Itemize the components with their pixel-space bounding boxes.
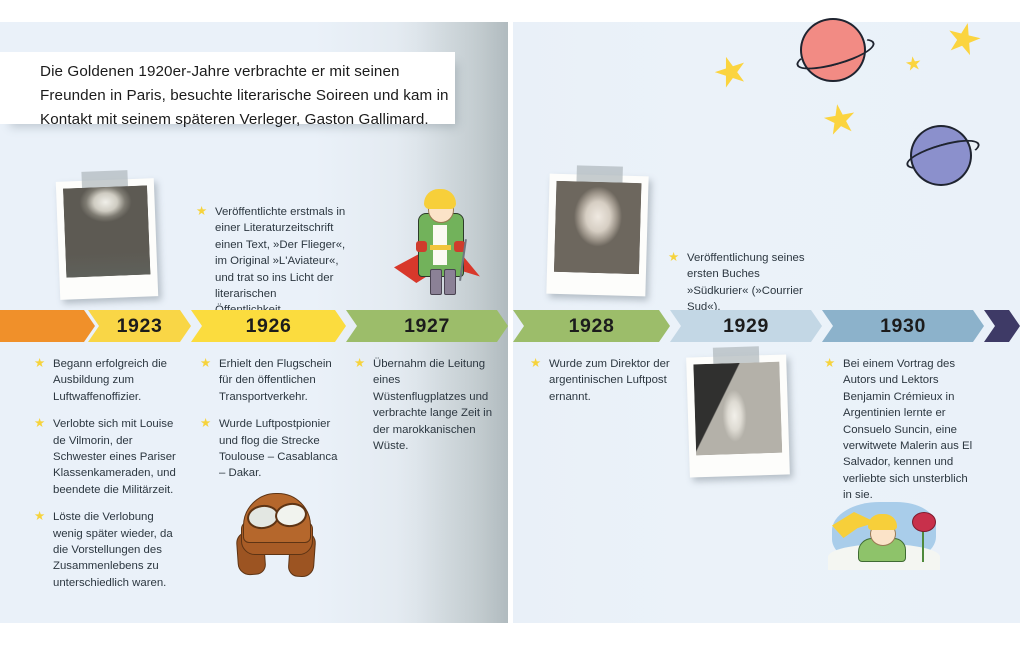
- list-item: ★ Löste die Verlobung wenig später wiede…: [34, 509, 184, 591]
- star-bullet-icon: ★: [34, 511, 45, 522]
- timeline-year-label: 1929: [723, 315, 769, 338]
- star-icon: ★: [904, 54, 924, 75]
- timeline-year-1929[interactable]: 1929: [670, 310, 822, 342]
- list-item: ★ Erhielt den Flugschein für den öffentl…: [200, 356, 346, 405]
- aviator-cap-with-goggles-icon: [233, 487, 319, 575]
- timeline-year-1926[interactable]: 1926: [191, 310, 346, 342]
- planet-blue-icon: [910, 125, 972, 186]
- column-1923-bullets: ★ Begann erfolgreich die Ausbildung zum …: [34, 356, 184, 602]
- note-1928: ★ Veröffentlichung seines ersten Buches …: [668, 250, 818, 316]
- star-bullet-icon: ★: [200, 358, 211, 369]
- bullet-text: Wurde Luftpostpionier und flog die Strec…: [219, 418, 337, 479]
- timeline-year-1923[interactable]: 1923: [88, 310, 191, 342]
- star-bullet-icon: ★: [354, 358, 365, 369]
- timeline-year-label: 1926: [246, 315, 292, 338]
- star-bullet-icon: ★: [668, 252, 679, 263]
- note-1926: ★ Veröffentlichte erstmals in einer Lite…: [196, 204, 346, 319]
- bullet-text: Wurde zum Direktor der argentinischen Lu…: [549, 358, 670, 403]
- star-bullet-icon: ★: [34, 418, 45, 429]
- little-prince-standing-icon: [392, 185, 488, 297]
- note-text: Veröffentlichte erstmals in einer Litera…: [215, 206, 345, 316]
- list-item: ★ Verlobte sich mit Louise de Vilmorin, …: [34, 416, 184, 498]
- page-edge-bottom: [0, 623, 1020, 645]
- timeline-end-cap: [984, 310, 1020, 342]
- column-1930-bullets: ★ Bei einem Vortrag des Autors und Lekto…: [824, 356, 976, 515]
- star-bullet-icon: ★: [196, 206, 207, 217]
- timeline-year-label: 1930: [880, 315, 926, 338]
- column-1928-bullets: ★ Wurde zum Direktor der argentinischen …: [530, 356, 678, 416]
- bullet-text: Erhielt den Flugschein für den öffentlic…: [219, 358, 332, 403]
- planet-red-icon: [800, 18, 866, 82]
- timeline-year-label: 1923: [117, 315, 163, 338]
- intro-text: Die Goldenen 1920er-Jahre verbrachte er …: [40, 60, 460, 132]
- timeline-year-1927[interactable]: 1927: [346, 310, 508, 342]
- timeline-start-cap: [0, 310, 95, 342]
- star-bullet-icon: ★: [34, 358, 45, 369]
- photo-image: [63, 185, 150, 277]
- list-item: ★ Übernahm die Leitung eines Wüstenflugp…: [354, 356, 494, 454]
- photo-portrait-saint-exupery: [546, 174, 648, 297]
- star-icon: ★: [819, 97, 861, 143]
- photo-man-with-airplane: [686, 354, 790, 477]
- photo-pilot-in-flight-suit: [56, 178, 158, 300]
- page-edge-top: [0, 0, 1020, 22]
- bullet-text: Löste die Verlobung wenig später wieder,…: [53, 511, 173, 589]
- column-1927-bullets: ★ Übernahm die Leitung eines Wüstenflugp…: [354, 356, 494, 465]
- star-bullet-icon: ★: [530, 358, 541, 369]
- bullet-text: Begann erfolgreich die Ausbildung zum Lu…: [53, 358, 167, 403]
- list-item: ★ Wurde Luftpostpionier und flog die Str…: [200, 416, 346, 482]
- photo-image: [554, 181, 642, 274]
- star-bullet-icon: ★: [824, 358, 835, 369]
- timeline-band: 1923 1926 1927 1928 1929 1930: [0, 310, 1020, 342]
- bullet-text: Übernahm die Leitung eines Wüstenflugpla…: [373, 358, 492, 452]
- column-1926-bullets: ★ Erhielt den Flugschein für den öffentl…: [200, 356, 346, 493]
- bullet-text: Verlobte sich mit Louise de Vilmorin, de…: [53, 418, 176, 496]
- bullet-text: Bei einem Vortrag des Autors und Lektors…: [843, 358, 972, 501]
- timeline-year-1930[interactable]: 1930: [822, 310, 984, 342]
- list-item: ★ Bei einem Vortrag des Autors und Lekto…: [824, 356, 976, 504]
- book-spread: ★ ★ ★ ★ Die Goldenen 1920er-Jahre verbra…: [0, 0, 1020, 645]
- photo-image: [693, 362, 782, 456]
- timeline-year-label: 1928: [569, 315, 615, 338]
- timeline-year-1928[interactable]: 1928: [513, 310, 670, 342]
- list-item: ★ Wurde zum Direktor der argentinischen …: [530, 356, 678, 405]
- list-item: ★ Begann erfolgreich die Ausbildung zum …: [34, 356, 184, 405]
- note-text: Veröffentlichung seines ersten Buches »S…: [687, 252, 805, 313]
- timeline-year-label: 1927: [404, 315, 450, 338]
- star-bullet-icon: ★: [200, 418, 211, 429]
